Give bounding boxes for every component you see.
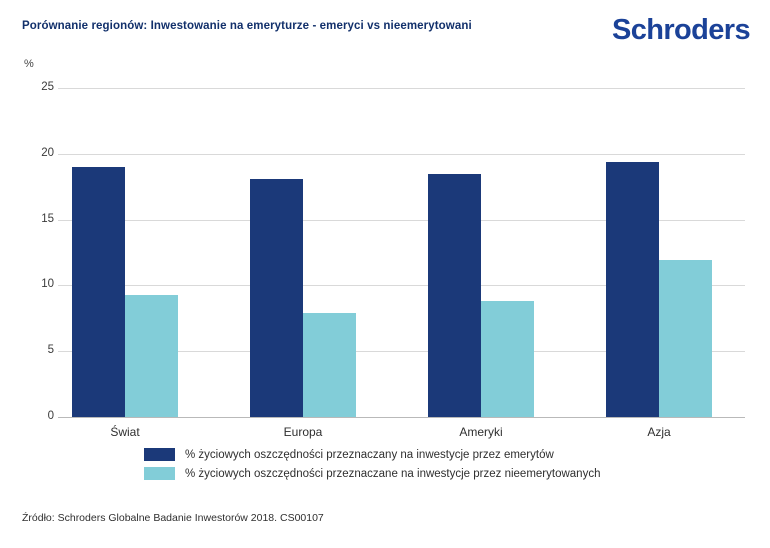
bar-non-retired[interactable] <box>125 295 178 417</box>
legend-item-retired: % życiowych oszczędności przeznaczany na… <box>144 445 600 464</box>
y-axis-tick-label: 5 <box>14 345 54 357</box>
y-axis-tick-label: 0 <box>14 411 54 423</box>
legend-label-non-retired: % życiowych oszczędności przeznaczane na… <box>185 468 600 480</box>
footer-divider <box>0 496 770 497</box>
y-axis-unit-label: % <box>24 58 34 70</box>
source-note: Źródło: Schroders Globalne Badanie Inwes… <box>22 512 324 524</box>
bar-retired[interactable] <box>428 174 481 417</box>
bar-retired[interactable] <box>250 179 303 417</box>
x-axis-category-label: Europa <box>243 426 363 438</box>
x-axis-category-label: Świat <box>65 426 185 438</box>
y-axis-tick-label: 20 <box>14 148 54 160</box>
chart-legend: % życiowych oszczędności przeznaczany na… <box>144 445 600 483</box>
bar-retired[interactable] <box>606 162 659 417</box>
gridline <box>58 154 745 155</box>
legend-swatch-icon-navy <box>144 448 175 461</box>
y-axis-tick-label: 25 <box>14 82 54 94</box>
y-axis-tick-label: 15 <box>14 214 54 226</box>
y-axis-tick-label: 10 <box>14 279 54 291</box>
bar-non-retired[interactable] <box>481 301 534 417</box>
x-axis-category-label: Ameryki <box>421 426 541 438</box>
bar-retired[interactable] <box>72 167 125 417</box>
bar-non-retired[interactable] <box>659 260 712 417</box>
legend-label-retired: % życiowych oszczędności przeznaczany na… <box>185 449 554 461</box>
gridline <box>58 88 745 89</box>
gridline <box>58 417 745 418</box>
legend-swatch-icon-light <box>144 467 175 480</box>
bar-non-retired[interactable] <box>303 313 356 417</box>
legend-item-non-retired: % życiowych oszczędności przeznaczane na… <box>144 464 600 483</box>
x-axis-category-label: Azja <box>599 426 719 438</box>
